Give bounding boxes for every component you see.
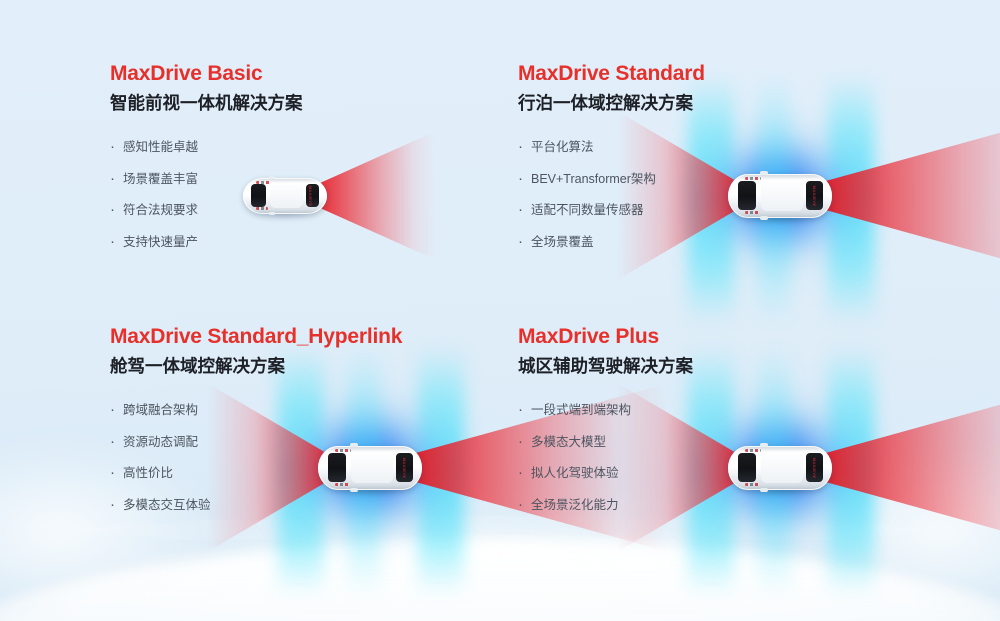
panel-hyperlink-feature-list: 跨域融合架构 资源动态调配 高性价比 多模态交互体验 — [110, 404, 500, 511]
list-item: 支持快速量产 — [110, 236, 490, 249]
floor-wave-back — [0, 537, 1000, 621]
list-item: BEV+Transformer架构 — [518, 173, 938, 186]
panel-plus-feature-list: 一段式端到端架构 多模态大模型 拟人化驾驶体验 全场景泛化能力 — [518, 404, 938, 511]
list-item: 资源动态调配 — [110, 436, 500, 449]
panel-plus-title: MaxDrive Plus — [518, 325, 938, 348]
list-item: 一段式端到端架构 — [518, 404, 938, 417]
list-item: 高性价比 — [110, 467, 500, 480]
list-item: 多模态大模型 — [518, 436, 938, 449]
panel-plus[interactable]: MaxDrive Plus 城区辅助驾驶解决方案 一段式端到端架构 多模态大模型… — [518, 325, 938, 540]
list-item: 符合法规要求 — [110, 204, 490, 217]
list-item: 平台化算法 — [518, 141, 938, 154]
panel-plus-subtitle: 城区辅助驾驶解决方案 — [518, 357, 938, 376]
list-item: 拟人化驾驶体验 — [518, 467, 938, 480]
floor-wave-front — [0, 543, 1000, 621]
panel-standard[interactable]: MaxDrive Standard 行泊一体域控解决方案 平台化算法 BEV+T… — [518, 62, 938, 272]
list-item: 跨域融合架构 — [110, 404, 500, 417]
panel-basic[interactable]: MaxDrive Basic 智能前视一体机解决方案 感知性能卓越 场景覆盖丰富… — [110, 62, 490, 272]
panel-basic-feature-list: 感知性能卓越 场景覆盖丰富 符合法规要求 支持快速量产 — [110, 141, 490, 248]
list-item: 全场景覆盖 — [518, 236, 938, 249]
list-item: 全场景泛化能力 — [518, 499, 938, 512]
panel-standard-subtitle: 行泊一体域控解决方案 — [518, 94, 938, 113]
panel-hyperlink[interactable]: MaxDrive Standard_Hyperlink 舱驾一体域控解决方案 跨… — [110, 325, 500, 540]
list-item: 感知性能卓越 — [110, 141, 490, 154]
panel-standard-feature-list: 平台化算法 BEV+Transformer架构 适配不同数量传感器 全场景覆盖 — [518, 141, 938, 248]
list-item: 适配不同数量传感器 — [518, 204, 938, 217]
list-item: 多模态交互体验 — [110, 499, 500, 512]
panel-basic-subtitle: 智能前视一体机解决方案 — [110, 94, 490, 113]
panel-hyperlink-title: MaxDrive Standard_Hyperlink — [110, 325, 500, 348]
panel-hyperlink-subtitle: 舱驾一体域控解决方案 — [110, 357, 500, 376]
slide-canvas: MAXIEYE MaxDrive Basic 智能前视一体机解决方案 感知性能卓… — [0, 0, 1000, 621]
list-item: 场景覆盖丰富 — [110, 173, 490, 186]
panel-standard-title: MaxDrive Standard — [518, 62, 938, 85]
panel-basic-title: MaxDrive Basic — [110, 62, 490, 85]
floor-wave-mid — [0, 541, 1000, 621]
